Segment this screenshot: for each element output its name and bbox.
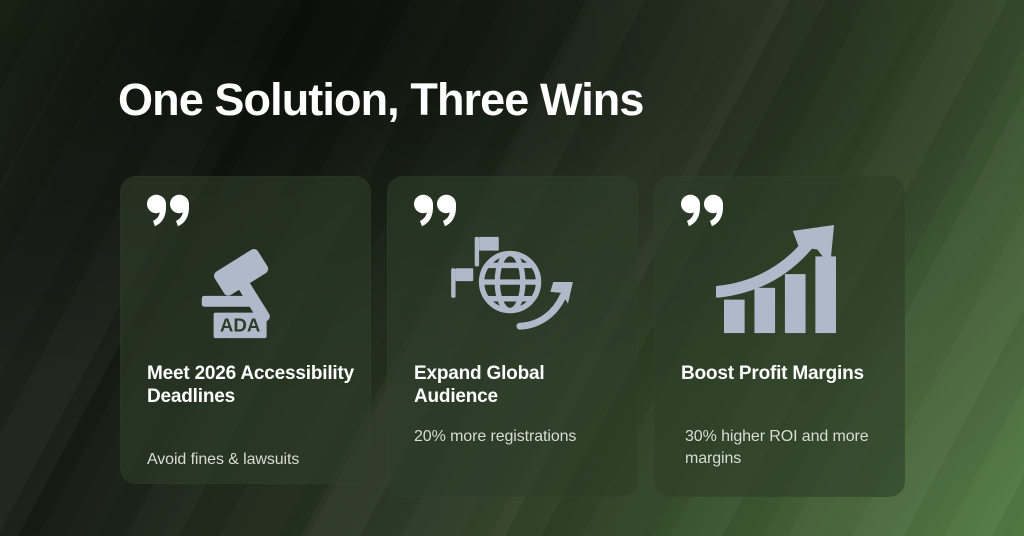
benefit-card-list: ADA Meet 2026 Accessibility Deadlines Av… [120, 176, 905, 497]
card-subtitle: 20% more registrations [414, 426, 624, 448]
growth-bar-chart-arrow-icon [654, 224, 905, 334]
card-title: Meet 2026 Accessibility Deadlines [147, 362, 355, 409]
quote-mark-icon [414, 194, 456, 228]
gavel-icon-ada-label: ADA [219, 315, 259, 336]
slide-content: One Solution, Three Wins [0, 0, 1024, 536]
benefit-card-profit-margins[interactable]: Boost Profit Margins 30% higher ROI and … [654, 176, 905, 497]
benefit-card-global-audience[interactable]: Expand Global Audience 20% more registra… [387, 176, 638, 497]
slide-canvas: One Solution, Three Wins [0, 0, 1024, 536]
globe-flags-arrow-icon [387, 230, 638, 340]
card-subtitle: 30% higher ROI and more margins [685, 426, 891, 470]
gavel-ada-icon: ADA [120, 236, 371, 346]
benefit-card-accessibility[interactable]: ADA Meet 2026 Accessibility Deadlines Av… [120, 176, 371, 484]
card-title: Expand Global Audience [414, 362, 622, 409]
card-subtitle: Avoid fines & lawsuits [147, 449, 357, 471]
card-title: Boost Profit Margins [681, 362, 889, 385]
quote-mark-icon [147, 194, 189, 228]
page-title: One Solution, Three Wins [118, 76, 644, 123]
